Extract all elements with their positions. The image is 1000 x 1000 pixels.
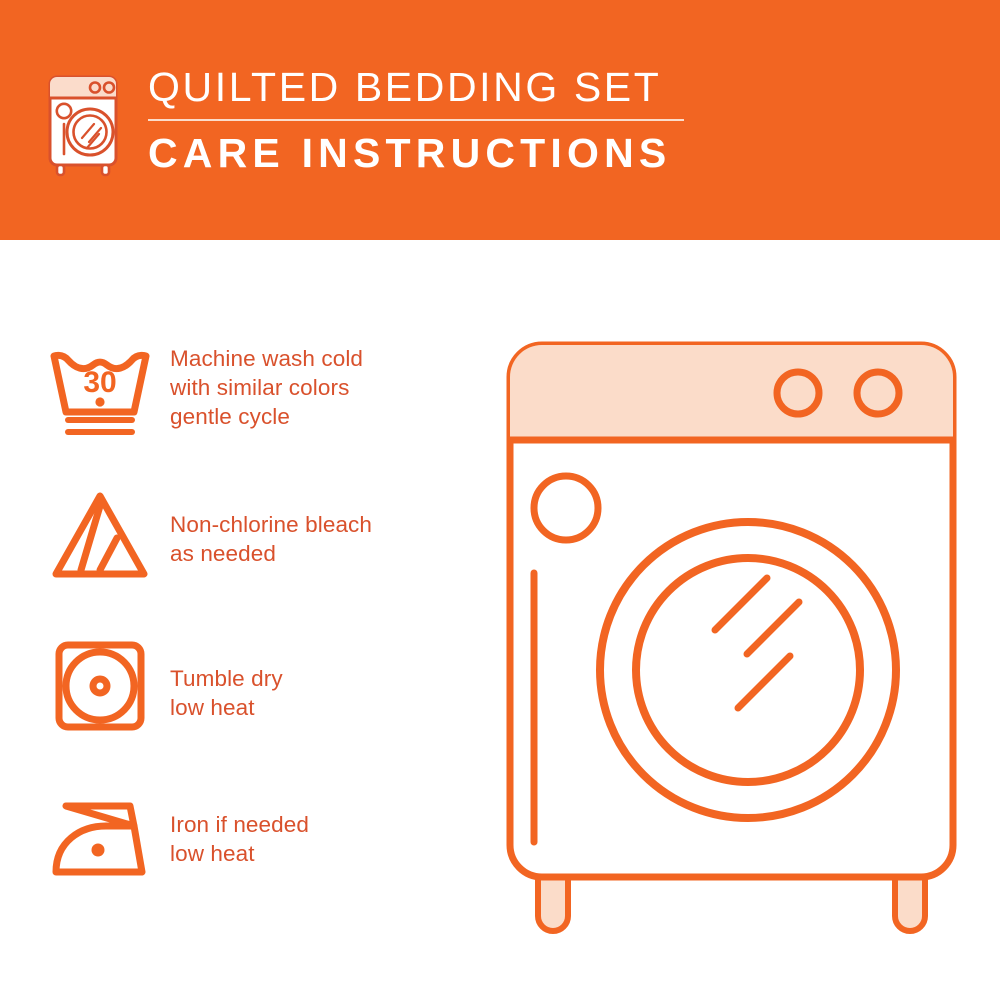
- washer-control-panel: [510, 345, 953, 440]
- care-instructions-infographic: QUILTED BEDDING SET CARE INSTRUCTIONS 30…: [0, 0, 1000, 1000]
- wash-temperature-value: 30: [83, 366, 116, 399]
- care-instruction-list: 30 Machine wash cold with similar colors…: [0, 240, 480, 1000]
- page-title: QUILTED BEDDING SET: [148, 62, 708, 112]
- care-row-iron-text: Iron if needed low heat: [170, 792, 309, 868]
- care-text-line: low heat: [170, 839, 309, 868]
- tumble-dry-low-heat-icon: [48, 640, 170, 736]
- care-text-line: Tumble dry: [170, 664, 283, 693]
- care-row-bleach: Non-chlorine bleach as needed: [48, 488, 478, 584]
- title-divider: [148, 119, 684, 121]
- care-row-machine-wash-text: Machine wash cold with similar colors ge…: [170, 344, 363, 431]
- care-row-bleach-text: Non-chlorine bleach as needed: [170, 488, 372, 568]
- washing-machine-icon: [44, 72, 128, 178]
- header-text-block: QUILTED BEDDING SET CARE INSTRUCTIONS: [148, 62, 708, 179]
- care-text-line: Non-chlorine bleach: [170, 510, 372, 539]
- care-text-line: with similar colors: [170, 373, 363, 402]
- care-row-tumble-dry-text: Tumble dry low heat: [170, 640, 283, 722]
- page-subtitle: CARE INSTRUCTIONS: [148, 127, 708, 179]
- care-row-tumble-dry: Tumble dry low heat: [48, 640, 478, 736]
- care-row-machine-wash: 30 Machine wash cold with similar colors…: [48, 344, 478, 440]
- care-text-line: Machine wash cold: [170, 344, 363, 373]
- wash-tub-30-gentle-icon: 30: [48, 344, 170, 440]
- iron-low-heat-icon: [48, 792, 170, 888]
- care-row-iron: Iron if needed low heat: [48, 792, 478, 888]
- front-load-washing-machine-illustration: [495, 330, 965, 940]
- non-chlorine-bleach-triangle-icon: [48, 488, 170, 584]
- header-banner: QUILTED BEDDING SET CARE INSTRUCTIONS: [0, 0, 1000, 240]
- care-text-line: Iron if needed: [170, 810, 309, 839]
- care-text-line: low heat: [170, 693, 283, 722]
- care-text-line: gentle cycle: [170, 402, 363, 431]
- care-text-line: as needed: [170, 539, 372, 568]
